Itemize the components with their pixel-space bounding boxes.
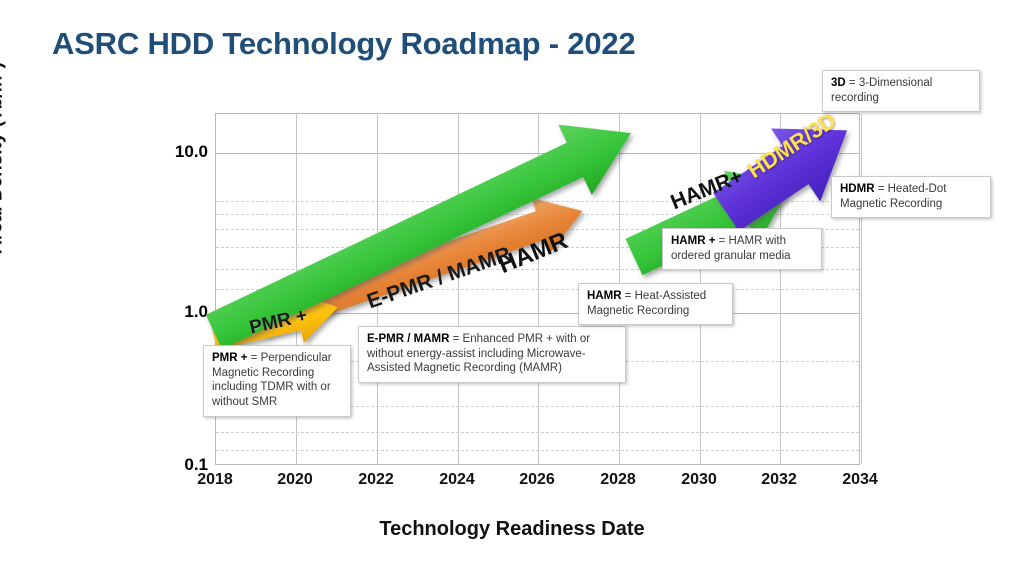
x-axis-title: Technology Readiness Date bbox=[0, 518, 1024, 541]
callout-hamr: HAMR = Heat-Assisted Magnetic Recording bbox=[578, 283, 733, 325]
callout-hamr-term: HAMR bbox=[587, 290, 625, 302]
gridline-horizontal-minor bbox=[216, 432, 859, 433]
callout-hamr-plus: HAMR + = HAMR with ordered granular medi… bbox=[662, 228, 822, 270]
x-tick-2034: 2034 bbox=[842, 471, 878, 489]
page-title: ASRC HDD Technology Roadmap - 2022 bbox=[52, 26, 635, 62]
callout-hdmr: HDMR = Heated-Dot Magnetic Recording bbox=[831, 176, 991, 218]
gridline-horizontal-minor bbox=[216, 289, 859, 290]
x-tick-2022: 2022 bbox=[358, 471, 394, 489]
x-tick-2032: 2032 bbox=[761, 471, 797, 489]
callout-3d: 3D = 3-Dimensional recording bbox=[822, 70, 980, 112]
callout-hdmr-term: HDMR bbox=[840, 183, 878, 195]
callout-hamrp-term: HAMR + bbox=[671, 235, 719, 247]
callout-3d-term: 3D bbox=[831, 77, 849, 89]
y-axis-title-suffix: ) bbox=[0, 62, 6, 68]
callout-pmr: PMR + = Perpendicular Magnetic Recording… bbox=[203, 345, 351, 417]
x-tick-2028: 2028 bbox=[600, 471, 636, 489]
callout-pmr-term: PMR + bbox=[212, 352, 251, 364]
x-tick-2020: 2020 bbox=[277, 471, 313, 489]
x-tick-2018: 2018 bbox=[197, 471, 233, 489]
gridline-horizontal-minor bbox=[216, 214, 859, 215]
y-tick-10: 10.0 bbox=[148, 142, 208, 162]
gridline-vertical bbox=[861, 114, 862, 464]
y-axis-title-prefix: Areal Density (Tb/in bbox=[0, 76, 6, 254]
x-tick-2024: 2024 bbox=[439, 471, 475, 489]
callout-epmr-term: E-PMR / MAMR bbox=[367, 333, 453, 345]
gridline-horizontal-minor bbox=[216, 450, 859, 451]
x-tick-2026: 2026 bbox=[519, 471, 555, 489]
y-axis-title: Areal Density (Tb/in2) bbox=[0, 8, 7, 308]
x-tick-2030: 2030 bbox=[681, 471, 717, 489]
callout-epmr-mamr: E-PMR / MAMR = Enhanced PMR + with or wi… bbox=[358, 326, 626, 383]
roadmap-slide: ASRC HDD Technology Roadmap - 2022 Areal… bbox=[0, 0, 1024, 576]
y-tick-1: 1.0 bbox=[148, 302, 208, 322]
gridline-horizontal-minor bbox=[216, 201, 859, 202]
gridline-horizontal-major bbox=[216, 313, 859, 314]
